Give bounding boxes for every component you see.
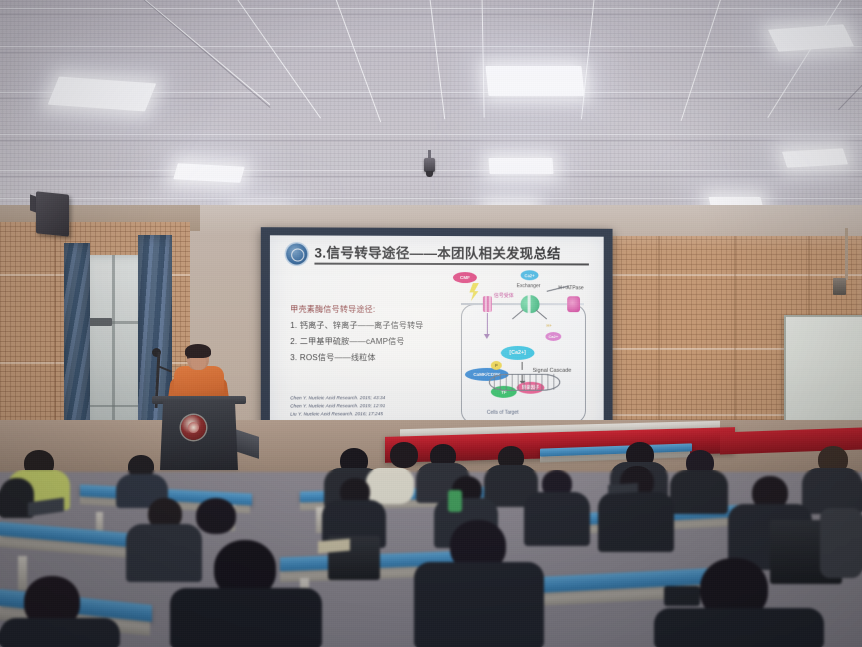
desk-leg <box>18 556 27 590</box>
ceiling-light <box>488 158 553 174</box>
audience-body <box>654 608 824 647</box>
wall-mounted-device <box>833 278 846 295</box>
audience-body <box>598 492 674 552</box>
audience-body <box>414 562 544 647</box>
audience-body <box>126 524 202 582</box>
projection-screen[interactable]: 3.信号转导途径——本团队相关发现总结 甲壳素酶信号转导途径: 1. 钙离子、锌… <box>261 227 613 445</box>
slide-title-underline <box>314 263 588 265</box>
projector-lens-icon <box>426 171 433 177</box>
window-shade <box>88 318 112 326</box>
cascade-tick <box>522 362 523 370</box>
audience-body <box>524 492 590 546</box>
slide-body-line: 2. 二甲基甲硫胺——cAMP信号 <box>290 336 404 347</box>
slide-reference: Chen Y. Nucleic Acid Research. 2019; 12:… <box>290 403 385 408</box>
receptor-label: 信号受体 <box>494 292 514 299</box>
camera-device <box>664 586 700 606</box>
wall-conduit <box>845 228 848 280</box>
audience-body <box>0 618 120 647</box>
phospho-pill: P <box>491 361 502 370</box>
signal-transduction-diagram: CMF Ca2+ 信号受体 Exchanger H+-ATPase <box>447 270 596 430</box>
ion-pill-inner: Ca2+ <box>545 332 561 341</box>
panel-seam <box>596 274 862 276</box>
slide-body-heading: 甲壳素酶信号转导途径: <box>290 304 375 315</box>
exchanger-label: Exchanger <box>517 283 541 289</box>
window-mullion <box>84 405 146 407</box>
cell-boundary <box>461 304 586 424</box>
arrow-head-icon <box>484 334 490 339</box>
slide-body-line: 3. ROS信号——线粒体 <box>290 352 376 363</box>
diagram-footer-label: Cells of Target <box>487 410 519 416</box>
dna-helix-icon <box>489 374 558 390</box>
ceiling-projector <box>424 158 435 172</box>
ceiling-light <box>782 148 848 167</box>
calcium-pool: [Ca2+] <box>501 346 535 360</box>
university-emblem-icon <box>286 243 307 264</box>
slide-title: 3.信号转导途径——本团队相关发现总结 <box>314 242 591 263</box>
receptor-channel <box>483 296 492 312</box>
slide-reference: Chen Y. Nucleic Acid Research. 2015; 43:… <box>290 395 385 400</box>
wall-speaker <box>36 191 69 236</box>
fur-collar <box>366 468 414 504</box>
ceiling-band <box>0 140 862 141</box>
presenter-hair <box>185 344 211 358</box>
lecture-hall-photo: 3.信号转导途径——本团队相关发现总结 甲壳素酶信号转导途径: 1. 钙离子、锌… <box>0 0 862 647</box>
suspended-ceiling <box>0 0 862 232</box>
audience-head <box>390 442 418 468</box>
audience-body <box>170 588 322 647</box>
slide-body-line: 1. 钙离子、锌离子——离子信号转导 <box>290 320 423 331</box>
exchanger-pore <box>528 295 531 313</box>
podium-emblem-icon <box>181 415 206 440</box>
ceiling-band <box>0 52 862 53</box>
flow-arrow <box>487 313 488 335</box>
water-bottle <box>448 490 462 512</box>
ion-pill-top: Ca2+ <box>521 270 539 280</box>
ceiling-band <box>0 46 862 47</box>
proton-label: H+ <box>546 323 551 328</box>
ceiling-band <box>0 134 862 135</box>
activation-bolt-icon <box>469 283 479 301</box>
audience-body <box>820 508 862 578</box>
slide-reference: Liu Y. Nucleic Acid Research. 2016; 17:2… <box>290 411 383 416</box>
audience-body <box>670 470 728 514</box>
presentation-slide: 3.信号转导途径——本团队相关发现总结 甲壳素酶信号转导途径: 1. 钙离子、锌… <box>270 235 604 436</box>
audience-head <box>196 498 236 534</box>
ceiling-light <box>485 66 584 96</box>
proton-pump <box>567 296 580 312</box>
ligand-pill: CMF <box>453 272 477 283</box>
